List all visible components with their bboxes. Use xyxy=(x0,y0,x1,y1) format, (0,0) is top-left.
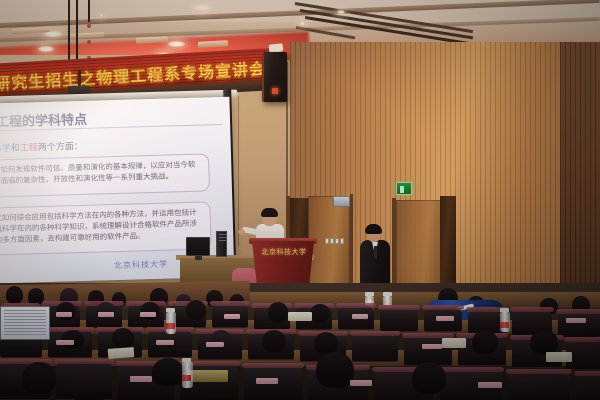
computer-monitor xyxy=(186,237,210,256)
cable-clip xyxy=(87,40,91,44)
audience-person xyxy=(152,358,184,386)
audience-person xyxy=(96,302,116,320)
audience-person xyxy=(314,332,338,354)
water-bottle xyxy=(500,312,510,332)
handout-paper xyxy=(546,352,572,362)
slide-keyword-science: 科学 xyxy=(0,144,11,154)
exit-running-man-glyph xyxy=(400,186,404,193)
handout-paper xyxy=(442,338,466,348)
handout-paper xyxy=(288,312,312,321)
water-bottle xyxy=(182,362,193,388)
audience-person xyxy=(530,330,558,354)
audience-person xyxy=(56,302,76,320)
seat-number-tag xyxy=(256,378,278,384)
handout-paper xyxy=(108,347,135,359)
seat-number-tag xyxy=(436,316,454,321)
bottle-cap xyxy=(182,358,191,362)
hanging-cable xyxy=(88,0,90,22)
seat-number-tag xyxy=(130,376,152,382)
slide-lead-after: 两个方面： xyxy=(38,142,83,153)
bottle-cap xyxy=(365,292,374,296)
laptop-screen-lines xyxy=(4,310,46,311)
audience-person xyxy=(472,330,498,354)
seat-number-tag xyxy=(56,312,72,317)
audience-person xyxy=(6,286,23,304)
seat-number-tag xyxy=(206,342,224,347)
seat-number-tag xyxy=(156,340,174,345)
light-switch[interactable] xyxy=(325,238,329,244)
emergency-exit-sign-icon xyxy=(396,182,412,195)
audience-person xyxy=(210,330,232,350)
slide-footer-logo: 北京科技大学 xyxy=(114,259,168,272)
speaker-power-led-icon xyxy=(272,88,278,94)
slide-lead-mid: 和 xyxy=(11,144,20,154)
presenter-hand xyxy=(238,229,245,235)
audience-seat xyxy=(508,372,570,400)
bottle-cap xyxy=(383,292,392,296)
bottle-label xyxy=(182,375,191,381)
seat-number-tag xyxy=(140,312,156,317)
audience-seat xyxy=(558,312,600,338)
slide-bullet-box-2: 研究如何综合应用包括科学方法在内的各种方法，并运用包括计算机科学在内的各种科学知… xyxy=(0,201,212,255)
slide-bullet-text-2: 研究如何综合应用包括科学方法在内的各种方法，并运用包括计算机科学在内的各种科学知… xyxy=(0,202,210,249)
audience-person xyxy=(316,352,354,388)
seat-number-tag xyxy=(422,344,442,349)
loudspeaker xyxy=(262,52,287,102)
seat-number-tag xyxy=(352,314,368,319)
bottle-label xyxy=(166,323,175,329)
audience-seat xyxy=(352,334,398,362)
seat-number-tag xyxy=(224,314,240,319)
audience-seat xyxy=(576,374,600,400)
slide-keyword-engineering: 工程 xyxy=(20,143,38,153)
bottle-cap xyxy=(500,308,509,312)
seat-number-tag xyxy=(56,340,74,345)
cable-clip xyxy=(87,24,91,28)
seat-number-tag xyxy=(478,382,502,388)
seat-number-tag xyxy=(98,312,114,317)
audience-seat xyxy=(380,308,418,332)
staff-necktie xyxy=(374,246,377,258)
light-switch[interactable] xyxy=(340,238,344,244)
audience-person xyxy=(186,300,206,320)
slide-lead-line: 分为科学和工程两个方面： xyxy=(0,139,83,155)
slide-bullet-box-1: 研究如何发现软件可信、质量和演化的基本规律，以应对当今软件所面临的复杂性、开放性… xyxy=(0,153,210,197)
handout-paper xyxy=(188,370,228,382)
water-bottle xyxy=(166,312,176,334)
computer-tower xyxy=(216,231,227,257)
audience-person xyxy=(62,330,84,348)
audience-person xyxy=(22,362,56,394)
ceiling-downlight xyxy=(100,14,103,17)
tower-drive-slots-icon xyxy=(219,234,226,235)
audience-laptop xyxy=(0,306,50,340)
ceiling-downlight xyxy=(193,4,212,11)
presenter-hair xyxy=(261,208,278,217)
audience-person xyxy=(140,302,160,320)
seat-number-tag xyxy=(350,380,372,386)
wall-vent-icon xyxy=(333,196,350,207)
ceiling-downlight xyxy=(38,46,54,52)
podium-plaque-text: 北京科技大学 xyxy=(258,246,310,258)
monitor-stand xyxy=(195,256,202,260)
slide-bullet-text-1: 研究如何发现软件可信、质量和演化的基本规律，以应对当今软件所面临的复杂性、开放性… xyxy=(0,154,209,190)
audience-person xyxy=(112,328,134,348)
audience-person xyxy=(310,304,330,322)
light-switch[interactable] xyxy=(330,238,334,244)
bottle-label xyxy=(500,322,509,328)
bottle-cap xyxy=(166,308,175,312)
lecture-hall-photo: 研究生招生之物理工程系专场宣讲会 EPSON 软件工程的学科特点 分为科学和工程… xyxy=(0,0,600,400)
audience-person xyxy=(262,330,286,352)
seat-number-tag xyxy=(566,318,586,323)
audience-person xyxy=(412,362,446,394)
light-switch[interactable] xyxy=(335,238,339,244)
ceiling-downlight xyxy=(168,41,185,47)
staff-hair xyxy=(365,224,382,234)
ceiling-downlight xyxy=(337,10,345,14)
audience-person xyxy=(70,382,108,400)
ceiling-downlight xyxy=(300,22,305,25)
audience-person xyxy=(268,302,288,322)
